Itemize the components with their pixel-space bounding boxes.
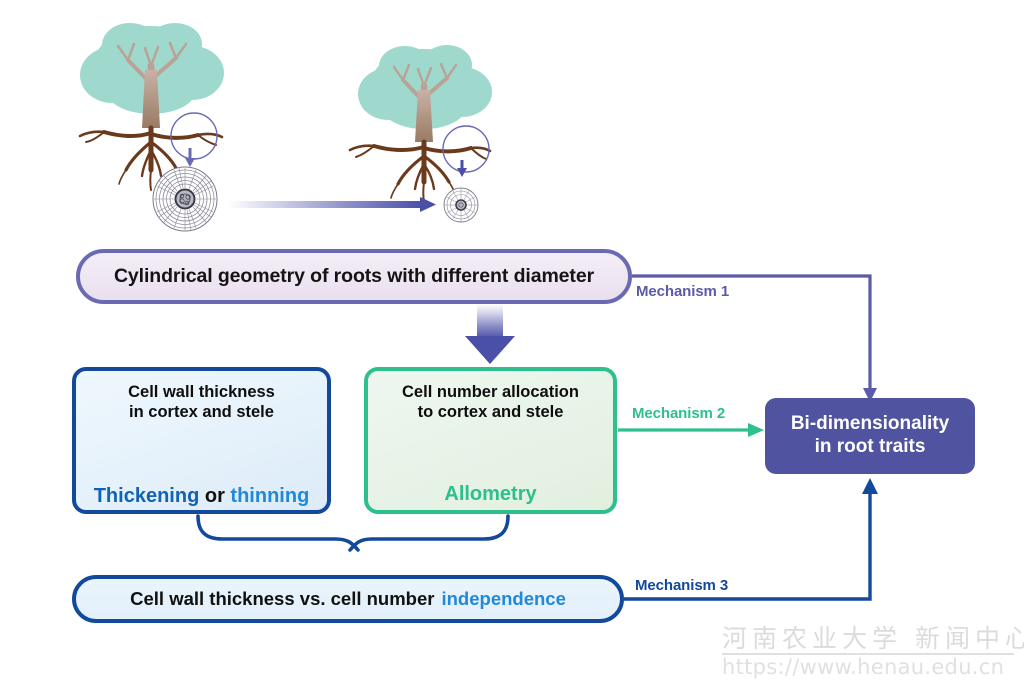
cellnumber-heading-line2: to cortex and stele: [402, 402, 579, 422]
cellwall-outcome-thickening: Thickening: [94, 485, 200, 507]
cellnumber-heading: Cell number allocation to cortex and ste…: [402, 382, 579, 422]
independence-label-highlight: independence: [441, 588, 565, 610]
mechanism-2-label: Mechanism 2: [632, 405, 725, 422]
result-line2: in root traits: [815, 436, 926, 459]
cellwall-heading: Cell wall thickness in cortex and stele: [128, 382, 275, 422]
magnifier-down-arrow-right: [457, 160, 467, 177]
figure-canvas: Cylindrical geometry of roots with diffe…: [0, 0, 1024, 682]
mechanism-1-label: Mechanism 1: [636, 283, 729, 300]
cellnumber-outcome: Allometry: [444, 484, 536, 504]
cellwall-outcome-thinning: thinning: [230, 485, 309, 507]
mechanism-2-arrowhead: [748, 423, 764, 437]
box-bi-dimensionality-result[interactable]: Bi-dimensionality in root traits: [765, 398, 975, 474]
box-cell-wall-thickness[interactable]: Cell wall thickness in cortex and stele …: [72, 367, 331, 514]
mechanism-3-label: Mechanism 3: [635, 577, 728, 594]
thick-root-tree: [80, 23, 224, 231]
brace-connector: [198, 516, 508, 550]
cellnumber-heading-line1: Cell number allocation: [402, 382, 579, 402]
box-cell-number-allocation[interactable]: Cell number allocation to cortex and ste…: [364, 367, 617, 514]
cellwall-outcome: Thickening or thinning: [94, 486, 310, 506]
independence-label-plain: Cell wall thickness vs. cell number: [130, 588, 434, 610]
cellwall-heading-line2: in cortex and stele: [128, 402, 275, 422]
watermark: 河南农业大学 新闻中心 https://www.henau.edu.cn: [722, 626, 1018, 678]
root-cross-section-thin: [444, 188, 478, 222]
watermark-url: https://www.henau.edu.cn: [722, 657, 1018, 678]
box-independence[interactable]: Cell wall thickness vs. cell numberindep…: [72, 575, 624, 623]
diameter-gradient-arrow: [228, 197, 436, 212]
thin-root-tree: [350, 45, 492, 222]
cellwall-heading-line1: Cell wall thickness: [128, 382, 275, 402]
watermark-chinese: 河南农业大学 新闻中心: [722, 626, 1018, 651]
gradient-down-arrow-main: [465, 304, 515, 364]
root-illustration-panel: [0, 0, 1024, 245]
stele-thin: [456, 200, 466, 210]
cellwall-outcome-conj: or: [199, 485, 230, 507]
mechanism-3-arrowhead: [862, 478, 878, 494]
result-line1: Bi-dimensionality: [791, 413, 949, 436]
root-cross-section-thick: [153, 167, 217, 231]
stele-thick: [176, 190, 195, 209]
